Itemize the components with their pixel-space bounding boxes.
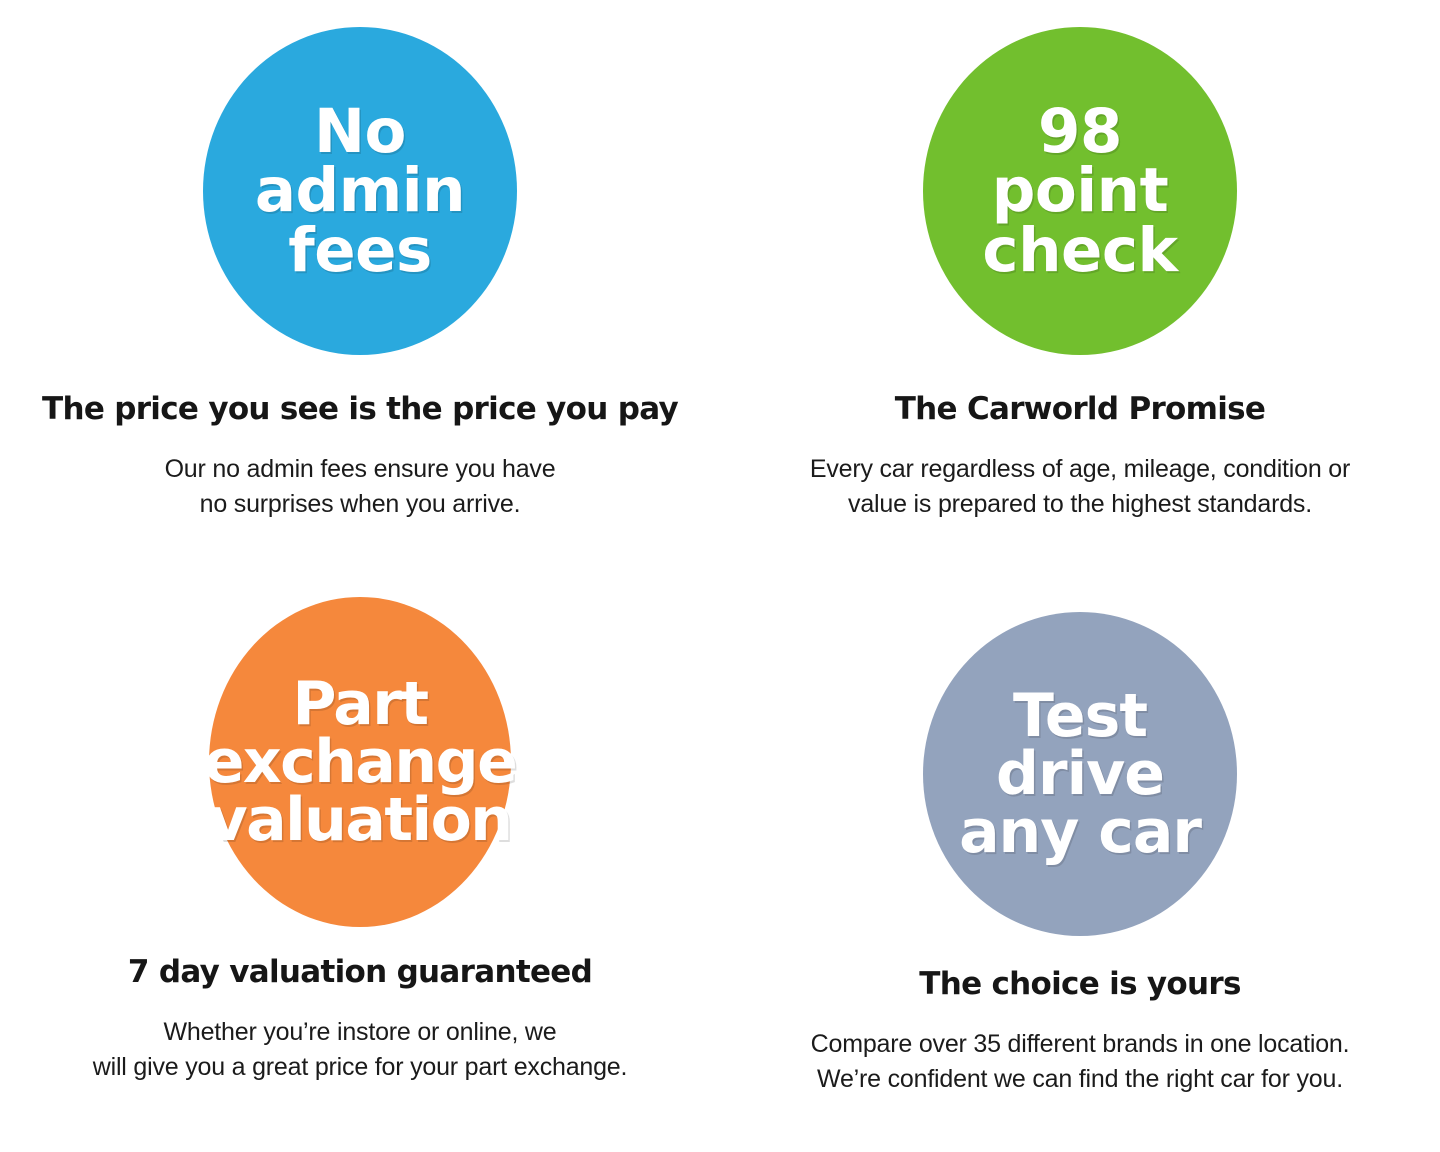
badge-line-3: fees	[255, 221, 465, 280]
usp-title: The price you see is the price you pay	[0, 392, 720, 426]
badge-wrapper: No admin fees	[0, 0, 720, 355]
usp-description-line: will give you a great price for your par…	[0, 1050, 720, 1086]
usp-description: Our no admin fees ensure you have no sur…	[0, 452, 720, 523]
badge-label: 98 point check	[982, 102, 1177, 279]
badge-line-1: Part	[204, 675, 517, 733]
usp-description-line: no surprises when you arrive.	[0, 487, 720, 523]
badge-label: Part exchange valuation	[204, 675, 517, 850]
badge-circle-part-exchange-valuation: Part exchange valuation	[209, 597, 511, 927]
usp-description-line: Our no admin fees ensure you have	[0, 452, 720, 488]
badge-circle-98-point-check: 98 point check	[923, 27, 1237, 355]
usp-description-line: Whether you’re instore or online, we	[0, 1015, 720, 1051]
badge-line-1: Test	[959, 687, 1201, 745]
usp-description: Compare over 35 different brands in one …	[720, 1027, 1440, 1098]
usp-card-test-drive-any-car[interactable]: Test drive any car The choice is yours C…	[720, 576, 1440, 1152]
usp-description-line: We’re confident we can find the right ca…	[720, 1062, 1440, 1098]
usp-title: 7 day valuation guaranteed	[0, 955, 720, 989]
badge-line-2: drive	[959, 745, 1201, 803]
usp-card-98-point-check[interactable]: 98 point check The Carworld Promise Ever…	[720, 0, 1440, 576]
badge-line-3: valuation	[204, 791, 517, 849]
badge-line-1: 98	[982, 102, 1177, 161]
badge-line-3: any car	[959, 803, 1201, 861]
usp-grid: No admin fees The price you see is the p…	[0, 0, 1440, 1152]
badge-circle-test-drive-any-car: Test drive any car	[923, 612, 1237, 936]
badge-line-2: exchange	[204, 733, 517, 791]
usp-card-part-exchange-valuation[interactable]: Part exchange valuation 7 day valuation …	[0, 576, 720, 1152]
usp-caption: The choice is yours Compare over 35 diff…	[720, 936, 1440, 1123]
usp-caption: The price you see is the price you pay O…	[0, 355, 720, 548]
usp-description-line: Every car regardless of age, mileage, co…	[720, 452, 1440, 488]
usp-description-line: value is prepared to the highest standar…	[720, 487, 1440, 523]
usp-card-no-admin-fees[interactable]: No admin fees The price you see is the p…	[0, 0, 720, 576]
badge-line-1: No	[255, 102, 465, 161]
usp-title: The Carworld Promise	[720, 392, 1440, 426]
usp-title: The choice is yours	[720, 967, 1440, 1001]
badge-line-2: point	[982, 161, 1177, 220]
usp-description: Whether you’re instore or online, we wil…	[0, 1015, 720, 1086]
usp-description: Every car regardless of age, mileage, co…	[720, 452, 1440, 523]
badge-label: Test drive any car	[959, 687, 1201, 862]
usp-caption: 7 day valuation guaranteed Whether you’r…	[0, 927, 720, 1111]
badge-line-3: check	[982, 221, 1177, 280]
usp-caption: The Carworld Promise Every car regardles…	[720, 355, 1440, 548]
usp-description-line: Compare over 35 different brands in one …	[720, 1027, 1440, 1063]
badge-line-2: admin	[255, 161, 465, 220]
badge-circle-no-admin-fees: No admin fees	[203, 27, 517, 355]
badge-wrapper: 98 point check	[720, 0, 1440, 355]
badge-label: No admin fees	[255, 102, 465, 279]
badge-wrapper: Part exchange valuation	[0, 576, 720, 927]
badge-wrapper: Test drive any car	[720, 576, 1440, 936]
